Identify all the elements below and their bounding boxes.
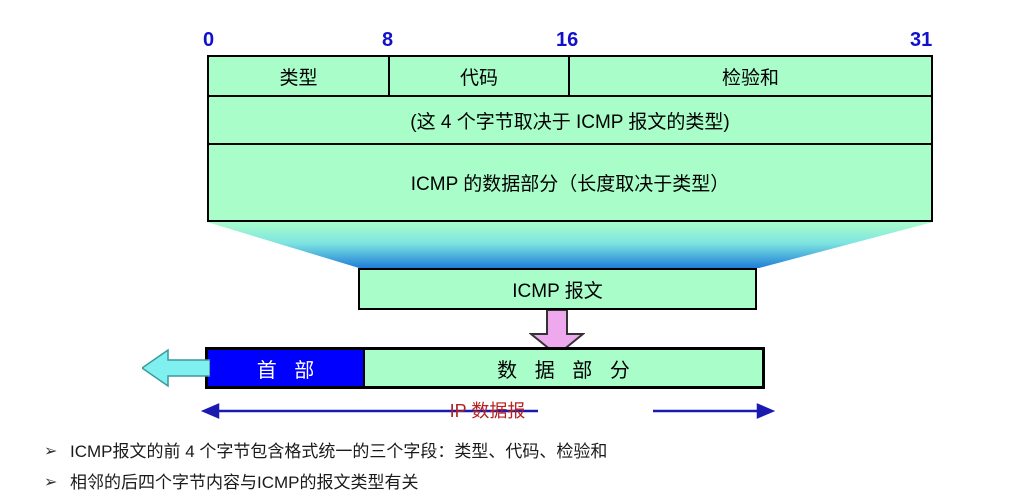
bullet-arrow-icon: ➢ [44,437,70,467]
field-type: 类型 [209,57,390,95]
icmp-header-table: 类型 代码 检验和 (这 4 个字节取决于 ICMP 报文的类型) ICMP 的… [207,55,933,222]
bullet-arrow-icon: ➢ [44,468,70,498]
bit-label-31: 31 [910,30,932,50]
list-item: ➢ 相邻的后四个字节内容与ICMP的报文类型有关 [44,468,1004,499]
list-item-text: 相邻的后四个字节内容与ICMP的报文类型有关 [70,468,419,498]
icmp-fields-row: 类型 代码 检验和 [209,57,931,97]
list-item: ➢ ICMP报文的前 4 个字节包含格式统一的三个字段：类型、代码、检验和 [44,437,1004,468]
icmp-data-row: ICMP 的数据部分（长度取决于类型） [209,145,931,220]
ip-data-segment: 数 据 部 分 [365,350,762,386]
field-checksum: 检验和 [570,57,931,95]
funnel-connector [207,222,933,268]
icmp-message-box: ICMP 报文 [358,268,757,310]
bit-label-8: 8 [382,30,393,50]
icmp-data-text: ICMP 的数据部分（长度取决于类型） [209,145,931,220]
left-arrow-icon [142,348,210,388]
field-code: 代码 [390,57,570,95]
bit-label-0: 0 [203,30,214,50]
ip-header-segment: 首 部 [208,350,365,386]
list-item-text: ICMP报文的前 4 个字节包含格式统一的三个字段：类型、代码、检验和 [70,437,607,467]
bit-label-16: 16 [556,30,578,50]
ip-datagram-measure-label: IP 数据报 [200,398,775,424]
icmp-message-label: ICMP 报文 [512,276,602,303]
icmp-variable-row: (这 4 个字节取决于 ICMP 报文的类型) [209,97,931,145]
notes-list: ➢ ICMP报文的前 4 个字节包含格式统一的三个字段：类型、代码、检验和 ➢ … [44,437,1004,499]
ip-datagram-bar: 首 部 数 据 部 分 [205,347,765,389]
icmp-variable-text: (这 4 个字节取决于 ICMP 报文的类型) [209,97,931,143]
